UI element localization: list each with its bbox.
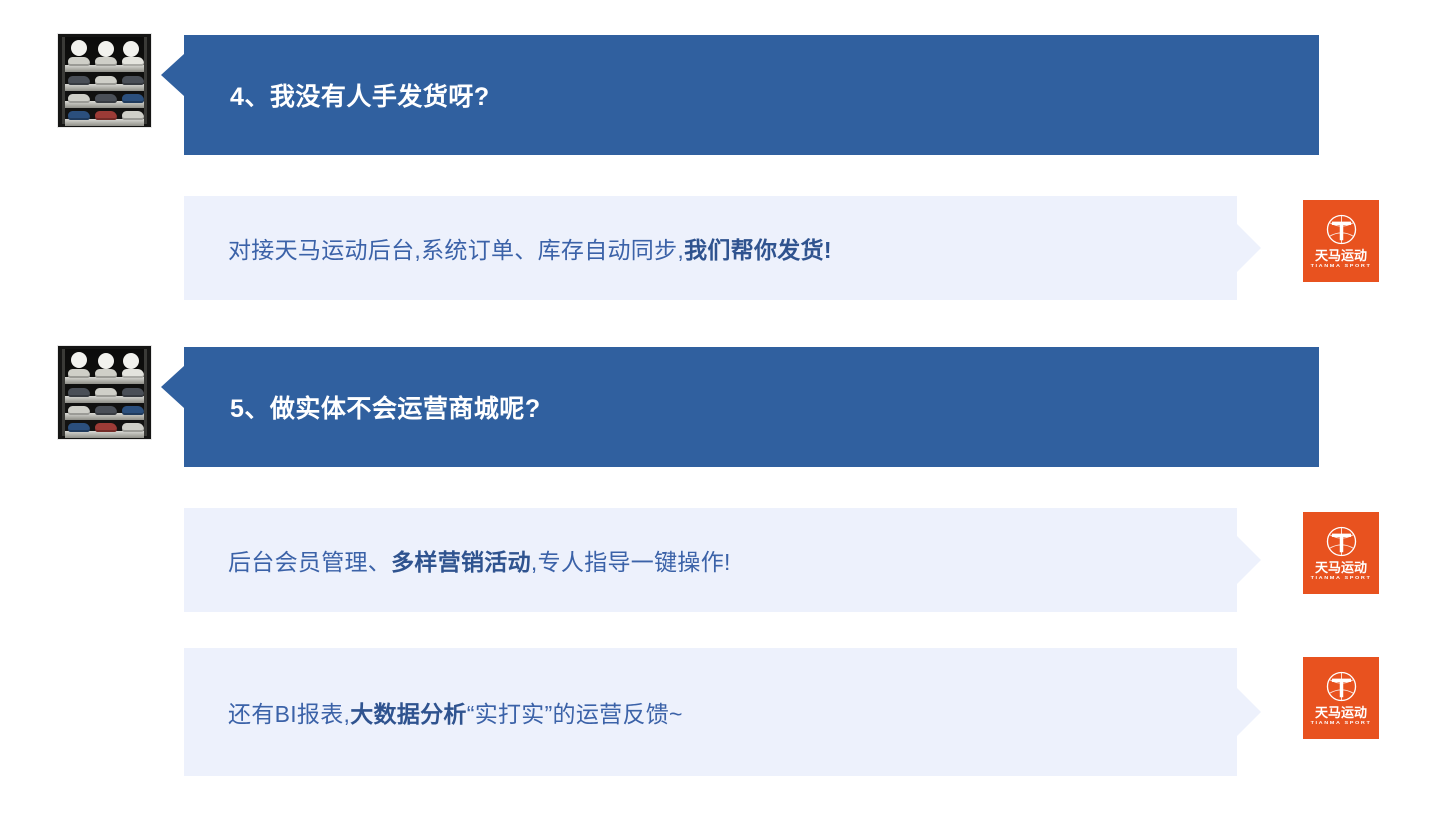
brand-name-cn: 天马运动 [1315,561,1367,574]
answer-arrow-icon-4-1 [1237,224,1261,272]
shoe [68,111,90,120]
ball-icon [123,41,139,57]
answer-panel-4-1: 对接天马运动后台,系统订单、库存自动同步,我们帮你发货! [184,196,1237,300]
banner-notch-icon-5 [161,366,184,408]
shelf-board [65,84,144,91]
shoe [122,388,144,397]
shoe [68,388,90,397]
basketball-t-icon [1325,525,1358,558]
shoe [122,423,144,432]
shelf-board [65,377,144,384]
shelf-board [65,431,144,438]
question-banner-5: 5、做实体不会运营商城呢? [184,347,1319,467]
shelf-board [65,119,144,126]
basketball-t-icon [1325,670,1358,703]
answer-plain-1: 对接天马运动后台,系统订单、库存自动同步, [228,237,684,263]
ball-icon [98,41,114,57]
shoe [95,76,117,85]
answer-arrow-icon-5-2 [1237,688,1261,736]
shoe [68,423,90,432]
brand-name-en: TIANMA SPORT [1311,576,1372,581]
answer-text-5-1: 后台会员管理、多样营销活动,专人指导一键操作! [184,543,731,577]
brand-logo-5-1: 天马运动 TIANMA SPORT [1303,512,1379,594]
shoe [122,111,144,120]
answer-plain-2: ,专人指导一键操作! [531,549,731,575]
shoe [122,76,144,85]
brand-logo-4-1: 天马运动 TIANMA SPORT [1303,200,1379,282]
shoe [68,406,90,415]
shoe [95,388,117,397]
shelf-board [65,396,144,403]
shoe [95,406,117,415]
answer-bold-1: 多样营销活动 [391,549,531,575]
shoe [68,94,90,103]
basketball-t-icon [1325,213,1358,246]
question-text-4: 4、我没有人手发货呀? [184,77,490,113]
shoe [122,57,144,66]
shelf-board [65,65,144,72]
ball-icon [71,352,87,368]
shoe [95,111,117,120]
shoe [95,369,117,378]
brand-name-en: TIANMA SPORT [1311,264,1372,269]
answer-panel-5-1: 后台会员管理、多样营销活动,专人指导一键操作! [184,508,1237,612]
answer-plain-1: 还有BI报表, [228,701,350,727]
slide-canvas: 4、我没有人手发货呀? 对接天马运动后台,系统订单、库存自动同步,我们帮你发货!… [0,0,1435,820]
shoe [68,57,90,66]
answer-plain-1: 后台会员管理、 [228,549,391,575]
shoe [68,369,90,378]
answer-arrow-icon-5-1 [1237,536,1261,584]
ball-icon [71,40,87,56]
brand-name-cn: 天马运动 [1315,706,1367,719]
store-shelf-photo-2 [57,345,152,440]
brand-name-cn: 天马运动 [1315,249,1367,262]
answer-plain-2: “实打实”的运营反馈~ [467,701,683,727]
shoe [122,94,144,103]
brand-name-en: TIANMA SPORT [1311,721,1372,726]
shoe [95,57,117,66]
shelf-frame [62,37,147,124]
answer-bold-1: 我们帮你发货! [684,237,832,263]
question-text-5: 5、做实体不会运营商城呢? [184,389,541,425]
question-banner-4: 4、我没有人手发货呀? [184,35,1319,155]
shelf-frame [62,349,147,436]
brand-logo-5-2: 天马运动 TIANMA SPORT [1303,657,1379,739]
shoe [122,406,144,415]
ball-icon [123,353,139,369]
shoe [122,369,144,378]
answer-text-5-2: 还有BI报表,大数据分析“实打实”的运营反馈~ [184,695,683,729]
banner-notch-icon-4 [161,54,184,96]
shoe [95,94,117,103]
ball-icon [98,353,114,369]
shoe [95,423,117,432]
store-shelf-photo-1 [57,33,152,128]
shoe [68,76,90,85]
answer-panel-5-2: 还有BI报表,大数据分析“实打实”的运营反馈~ [184,648,1237,776]
answer-text-4-1: 对接天马运动后台,系统订单、库存自动同步,我们帮你发货! [184,231,832,265]
answer-bold-1: 大数据分析 [350,701,467,727]
